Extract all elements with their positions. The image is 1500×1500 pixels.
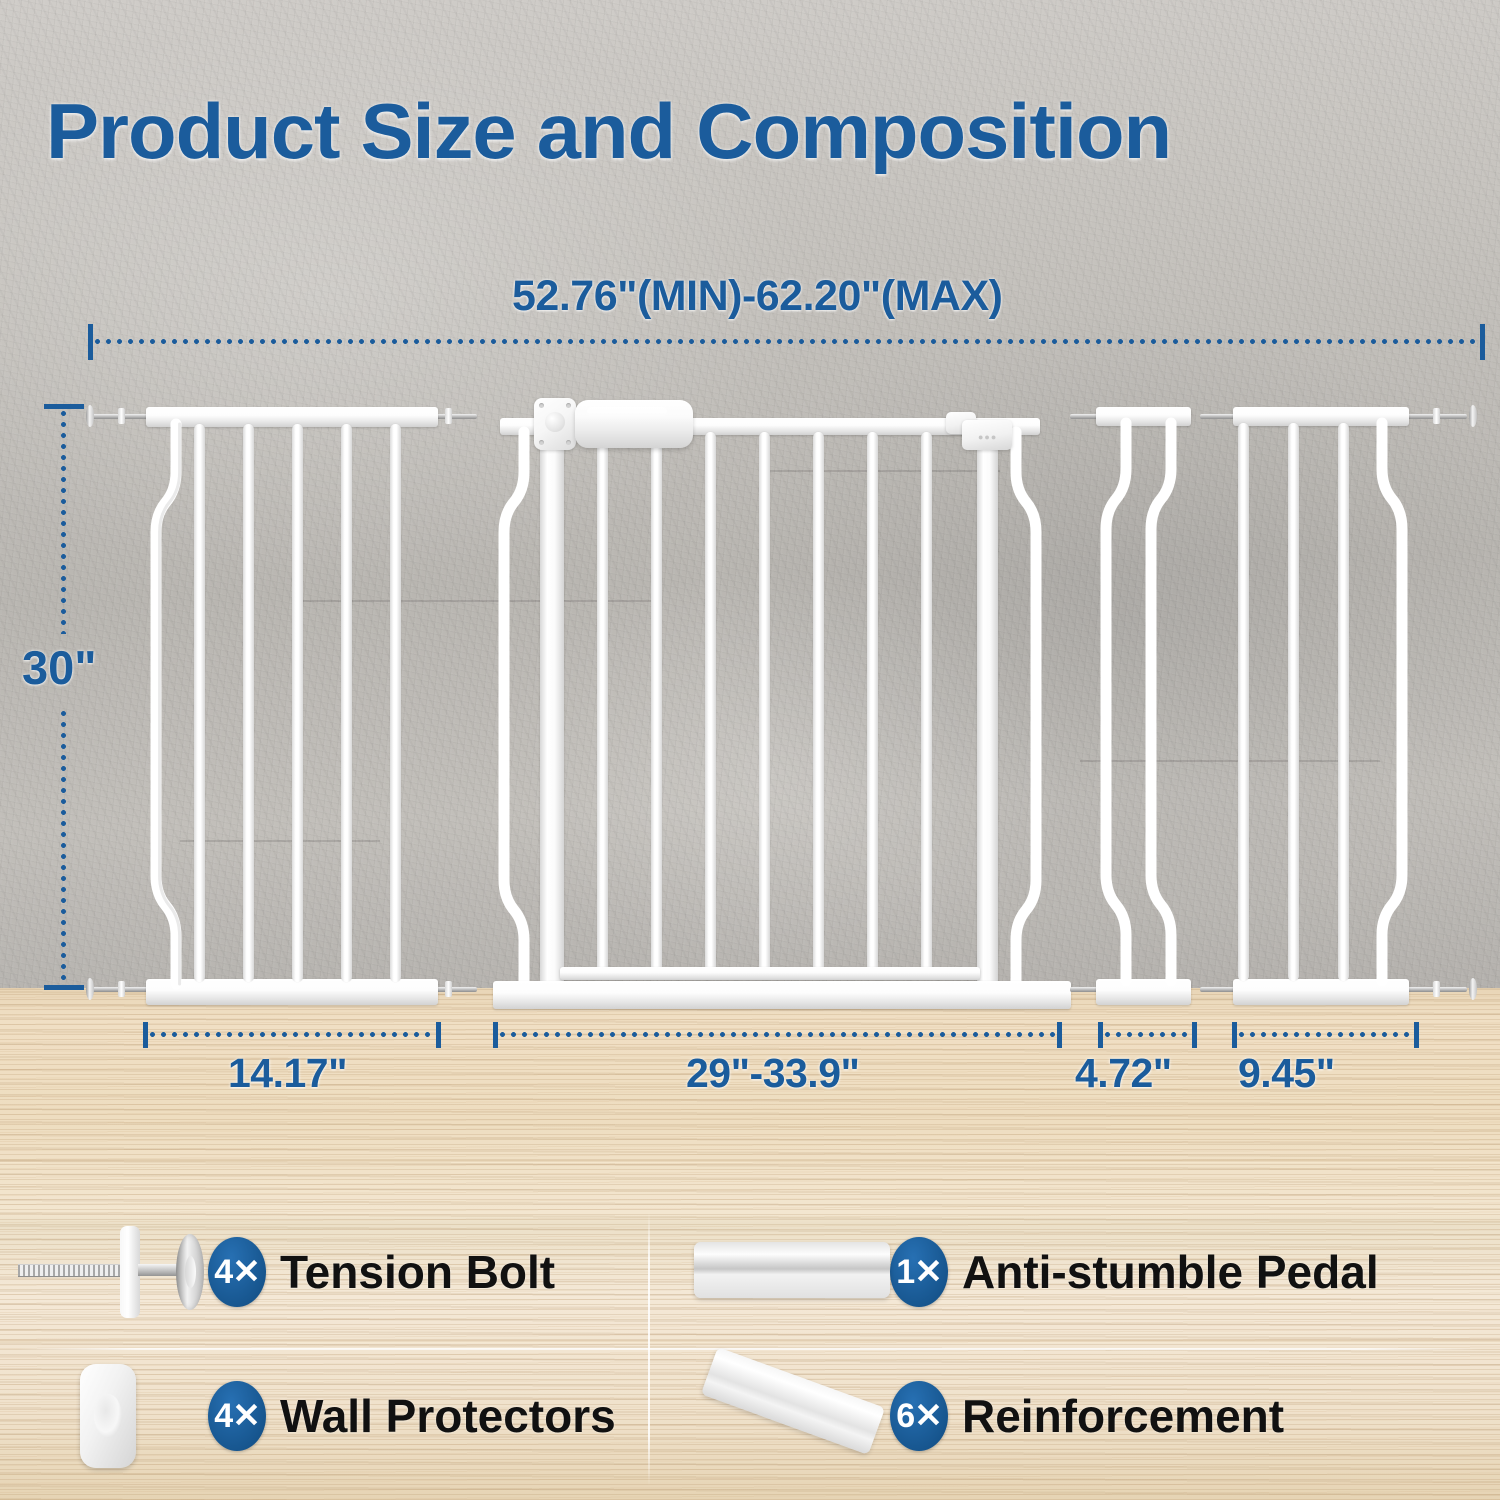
left-extension-width-label: 14.17" — [228, 1050, 347, 1097]
height-dimension-line-lower — [61, 708, 66, 988]
gate-door-bottom-rail — [560, 967, 980, 980]
medium-extension-bar-2 — [1288, 423, 1299, 981]
overall-width-label: 52.76"(MIN)-62.20"(MAX) — [512, 272, 1002, 321]
part-qty-badge-anti-stumble-pedal: 1✕ — [890, 1237, 948, 1307]
overall-width-dimension-line — [92, 339, 1482, 344]
medium-extension-dimension-line — [1236, 1032, 1413, 1037]
tension-bolt-bottom-me-right — [1405, 978, 1481, 1000]
small-extension-width-label: 4.72" — [1075, 1050, 1172, 1097]
part-qty-tension-bolt: 4 — [214, 1253, 232, 1292]
main-gate-bar-1 — [597, 432, 608, 974]
main-gate-bar-2 — [651, 432, 662, 974]
left-extension-bottom-rail — [146, 979, 438, 1005]
small-extension-bottom-rail — [1096, 979, 1191, 1005]
main-gate-threshold-bar — [493, 981, 1071, 1009]
part-qty-wall-protectors: 4 — [214, 1397, 232, 1436]
gate-handle-bar[interactable] — [575, 400, 693, 448]
main-gate-width-label: 29"-33.9" — [686, 1050, 859, 1097]
part-label-wall-protectors: Wall Protectors — [280, 1389, 616, 1443]
part-times-wall-protectors: ✕ — [232, 1396, 260, 1436]
part-times-reinforcement: ✕ — [914, 1396, 942, 1436]
part-item-anti-stumble-pedal: 1✕ Anti-stumble Pedal — [690, 1212, 1379, 1332]
anti-stumble-pedal-icon — [690, 1212, 890, 1332]
main-gate-bar-3 — [705, 432, 716, 974]
tension-bolt-bottom-left — [82, 978, 154, 1000]
small-extension-cap-right — [1192, 1022, 1197, 1048]
parts-list: 4✕ Tension Bolt 1✕ Anti-stumble Pedal 4✕… — [0, 1198, 1500, 1500]
gate-lock-detail-dots: ●●● — [978, 432, 997, 442]
left-extension-dimension-line — [147, 1032, 435, 1037]
medium-extension-bar-3 — [1338, 423, 1349, 981]
part-qty-badge-tension-bolt: 4✕ — [208, 1237, 266, 1307]
small-extension-s-curve-bar-2 — [1143, 423, 1183, 981]
left-extension-bar-4 — [341, 424, 352, 982]
medium-extension-width-label: 9.45" — [1238, 1050, 1335, 1097]
medium-extension-bar-1 — [1238, 423, 1249, 981]
infographic-canvas: Product Size and Composition 52.76"(MIN)… — [0, 0, 1500, 1500]
height-label: 30" — [22, 640, 97, 695]
part-qty-badge-wall-protectors: 4✕ — [208, 1381, 266, 1451]
part-label-anti-stumble-pedal: Anti-stumble Pedal — [962, 1245, 1379, 1299]
part-item-reinforcement: 6✕ Reinforcement — [690, 1356, 1284, 1476]
gate-door-hinge-post — [540, 444, 564, 984]
part-times-anti-stumble-pedal: ✕ — [914, 1252, 942, 1292]
main-gate-left-s-curve-frame — [496, 432, 536, 984]
parts-list-horizontal-divider — [18, 1348, 1482, 1350]
left-extension-bar-2 — [243, 424, 254, 982]
tension-bolt-top-me-right — [1405, 405, 1481, 427]
main-gate-right-s-curve-frame — [1004, 432, 1044, 984]
tension-bolt-icon — [8, 1212, 208, 1332]
height-dimension-line-upper — [61, 408, 66, 634]
left-extension-bar-1 — [194, 424, 205, 982]
small-extension-dimension-line — [1102, 1032, 1191, 1037]
part-item-tension-bolt: 4✕ Tension Bolt — [8, 1212, 555, 1332]
part-qty-reinforcement: 6 — [896, 1397, 914, 1436]
part-times-tension-bolt: ✕ — [232, 1252, 260, 1292]
small-extension-s-curve-bar-1 — [1098, 423, 1138, 981]
left-extension-bar-5 — [390, 424, 401, 982]
left-extension-cap-right — [436, 1022, 441, 1048]
wall-protector-icon — [8, 1356, 208, 1476]
part-item-wall-protectors: 4✕ Wall Protectors — [8, 1356, 616, 1476]
gate-latch-plate[interactable] — [534, 398, 576, 450]
part-qty-anti-stumble-pedal: 1 — [896, 1253, 914, 1292]
reinforcement-icon — [690, 1356, 890, 1476]
main-gate-cap-right — [1057, 1022, 1062, 1048]
tension-bolt-top-left — [82, 405, 154, 427]
main-gate-bar-7 — [921, 432, 932, 974]
page-title: Product Size and Composition — [46, 92, 1494, 170]
main-gate-bar-5 — [813, 432, 824, 974]
part-label-tension-bolt: Tension Bolt — [280, 1245, 555, 1299]
part-label-reinforcement: Reinforcement — [962, 1389, 1284, 1443]
gate-door-latch-post — [977, 444, 998, 984]
medium-extension-cap-right — [1414, 1022, 1419, 1048]
medium-extension-s-curve-bar — [1370, 423, 1414, 981]
left-extension-s-curve-bar — [146, 424, 186, 984]
main-gate-dimension-line — [497, 1032, 1056, 1037]
left-extension-bar-3 — [292, 424, 303, 982]
main-gate-bar-6 — [867, 432, 878, 974]
part-qty-badge-reinforcement: 6✕ — [890, 1381, 948, 1451]
main-gate-bar-4 — [759, 432, 770, 974]
